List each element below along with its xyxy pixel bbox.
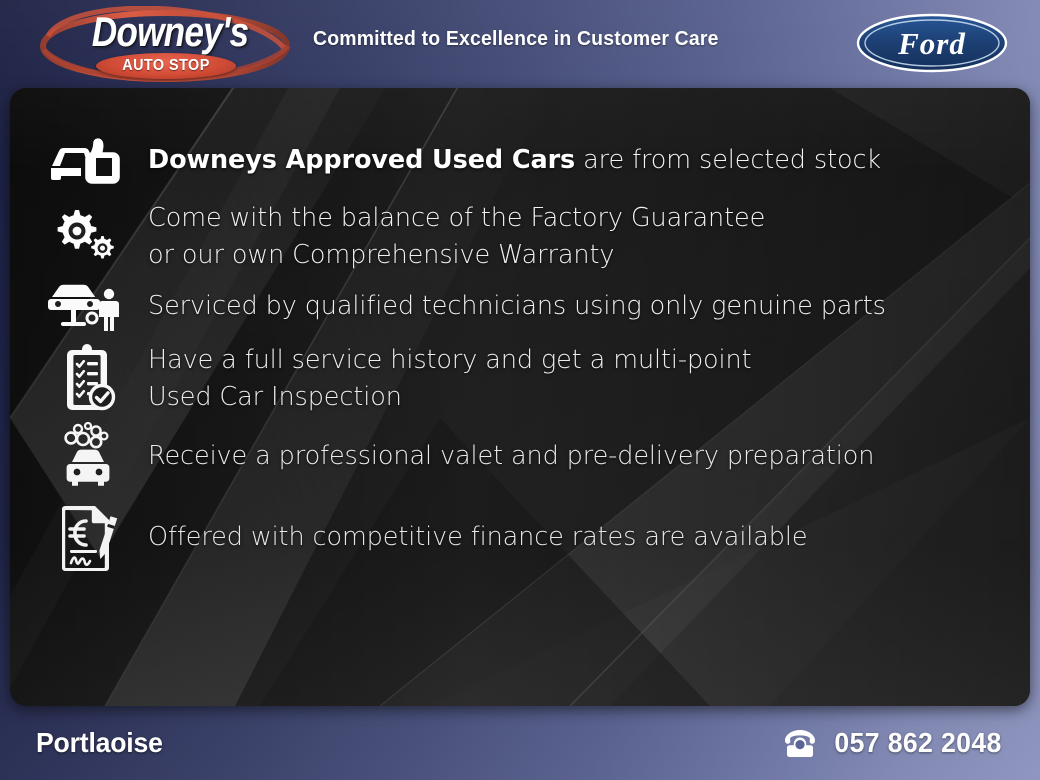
header-tagline: Committed to Excellence in Customer Care (313, 28, 719, 51)
ford-logo-icon[interactable]: Ford (856, 13, 1008, 73)
benefit-text: Receive a professional valet and pre-del… (148, 438, 874, 475)
benefit-text: Downeys Approved Used Cars are from sele… (148, 142, 881, 179)
benefit-text-line1: Have a full service history and get a mu… (148, 342, 752, 379)
car-thumbs-up-icon (48, 134, 130, 186)
telephone-icon (783, 728, 817, 758)
car-wash-icon (48, 422, 130, 490)
logo-subtitle-pill: AUTO STOP (96, 53, 236, 79)
benefit-item: Offered with competitive finance rates a… (10, 502, 1030, 572)
benefit-text-line2: Used Car Inspection (148, 379, 752, 416)
dealer-location: Portlaoise (36, 727, 163, 759)
benefit-text: Have a full service history and get a mu… (148, 342, 752, 416)
benefit-item: Downeys Approved Used Cars are from sele… (10, 134, 1030, 186)
banner-footer: Portlaoise 057 862 2048 (0, 706, 1040, 780)
benefit-text: Come with the balance of the Factory Gua… (148, 200, 765, 274)
clipboard-checklist-icon (48, 343, 130, 415)
benefit-item: Serviced by qualified technicians using … (10, 280, 1030, 332)
benefits-panel: Downeys Approved Used Cars are from sele… (10, 88, 1030, 706)
benefit-text: Serviced by qualified technicians using … (148, 288, 886, 325)
benefit-item: Come with the balance of the Factory Gua… (10, 200, 1030, 274)
dealer-promo-banner: Downey's AUTO STOP Committed to Excellen… (0, 0, 1040, 780)
benefits-list: Downeys Approved Used Cars are from sele… (10, 88, 1030, 706)
phone-contact[interactable]: 057 862 2048 (783, 727, 1006, 759)
logo-subtitle-text: AUTO STOP (103, 53, 229, 79)
benefit-text-bold: Downeys Approved Used Cars (148, 145, 575, 175)
benefit-text-line2: or our own Comprehensive Warranty (148, 237, 765, 274)
benefit-text-rest: are from selected stock (575, 145, 881, 175)
benefit-text-line1: Come with the balance of the Factory Gua… (148, 200, 765, 237)
benefit-item: Have a full service history and get a mu… (10, 342, 1030, 416)
downeys-logo[interactable]: Downey's AUTO STOP (34, 6, 296, 82)
logo-wordmark: Downey's (86, 9, 254, 54)
euro-document-pen-icon (48, 502, 130, 572)
benefit-item: Receive a professional valet and pre-del… (10, 422, 1030, 490)
banner-header: Downey's AUTO STOP Committed to Excellen… (0, 0, 1040, 88)
car-lift-technician-icon (48, 280, 130, 332)
gears-icon (48, 208, 130, 266)
phone-number: 057 862 2048 (834, 727, 1001, 759)
svg-text:Ford: Ford (897, 26, 966, 61)
benefit-text: Offered with competitive finance rates a… (148, 519, 807, 556)
